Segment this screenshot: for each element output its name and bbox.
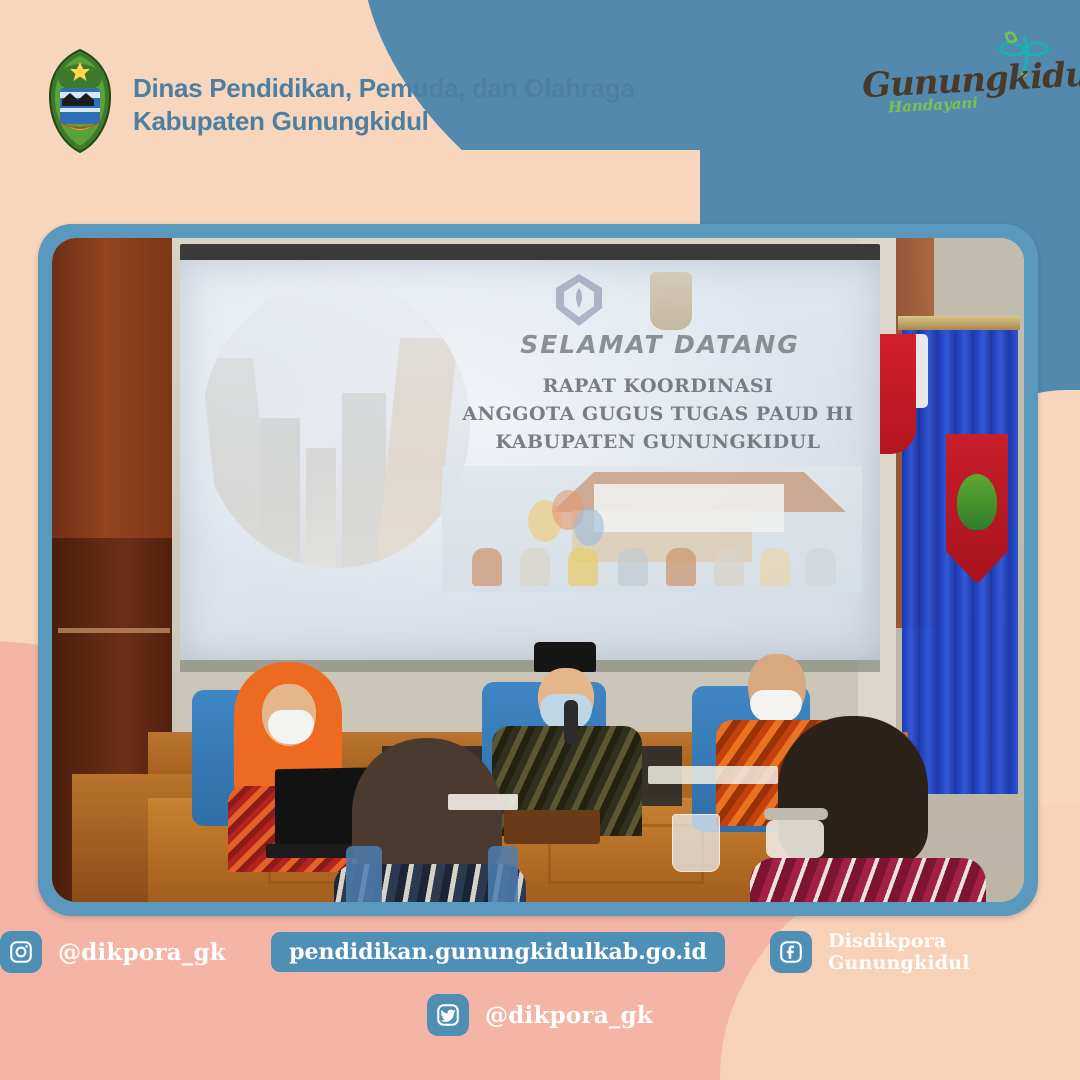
slide-logos	[510, 268, 750, 334]
gunungkidul-regency-crest-icon	[42, 48, 118, 154]
instagram-handle[interactable]: @dikpora_gk	[58, 939, 226, 966]
pennant-emblem-icon	[957, 474, 997, 530]
title-line-2: Kabupaten Gunungkidul	[133, 105, 635, 138]
poster-footer: @dikpora_gk pendidikan.gunungkidulkab.go…	[0, 916, 1080, 1080]
meeting-photo: SELAMAT DATANG RAPAT KOORDINASI ANGGOTA …	[52, 238, 1024, 902]
tut-wuri-handayani-logo-icon	[550, 270, 608, 330]
website-url[interactable]: pendidikan.gunungkidulkab.go.id	[271, 932, 725, 972]
footer-row-secondary: @dikpora_gk	[0, 994, 1080, 1036]
footer-row-primary: @dikpora_gk pendidikan.gunungkidulkab.go…	[0, 930, 1080, 974]
slide-body-line-3: KABUPATEN GUNUNGKIDUL	[448, 428, 868, 456]
papers-on-table	[648, 766, 778, 784]
organization-title: Dinas Pendidikan, Pemuda, dan Olahraga K…	[133, 72, 635, 138]
facebook-icon[interactable]	[770, 931, 812, 973]
name-card	[448, 794, 518, 810]
poster-canvas: Dinas Pendidikan, Pemuda, dan Olahraga K…	[0, 0, 1080, 1080]
poster-header: Dinas Pendidikan, Pemuda, dan Olahraga K…	[0, 0, 1080, 210]
brand-tagline: Handayani	[888, 94, 979, 117]
regency-emblem-icon	[650, 272, 692, 330]
wooden-box-on-table	[504, 810, 600, 844]
curtain-rail	[898, 316, 1020, 330]
gunungkidul-brand-logo: Gunungkidul Handayani	[852, 26, 1062, 132]
twitter-handle[interactable]: @dikpora_gk	[485, 1002, 653, 1029]
title-line-1: Dinas Pendidikan, Pemuda, dan Olahraga	[133, 72, 635, 105]
wall-trim	[58, 628, 170, 633]
projector-screen: SELAMAT DATANG RAPAT KOORDINASI ANGGOTA …	[180, 260, 880, 660]
slide-body-line-2: ANGGOTA GUGUS TUGAS PAUD HI	[448, 400, 868, 428]
instagram-icon[interactable]	[0, 931, 42, 973]
school-with-children-illustration	[442, 466, 862, 592]
twitter-icon[interactable]	[427, 994, 469, 1036]
slide-body-text: RAPAT KOORDINASI ANGGOTA GUGUS TUGAS PAU…	[448, 372, 868, 456]
skyscrapers-circle-photo	[202, 282, 470, 568]
drinking-cup	[672, 814, 720, 872]
slide-welcome-text: SELAMAT DATANG	[480, 330, 840, 359]
photo-frame: SELAMAT DATANG RAPAT KOORDINASI ANGGOTA …	[38, 224, 1038, 916]
slide-body-line-1: RAPAT KOORDINASI	[448, 372, 868, 400]
facebook-page-name[interactable]: Disdikpora Gunungkidul	[828, 930, 1080, 974]
